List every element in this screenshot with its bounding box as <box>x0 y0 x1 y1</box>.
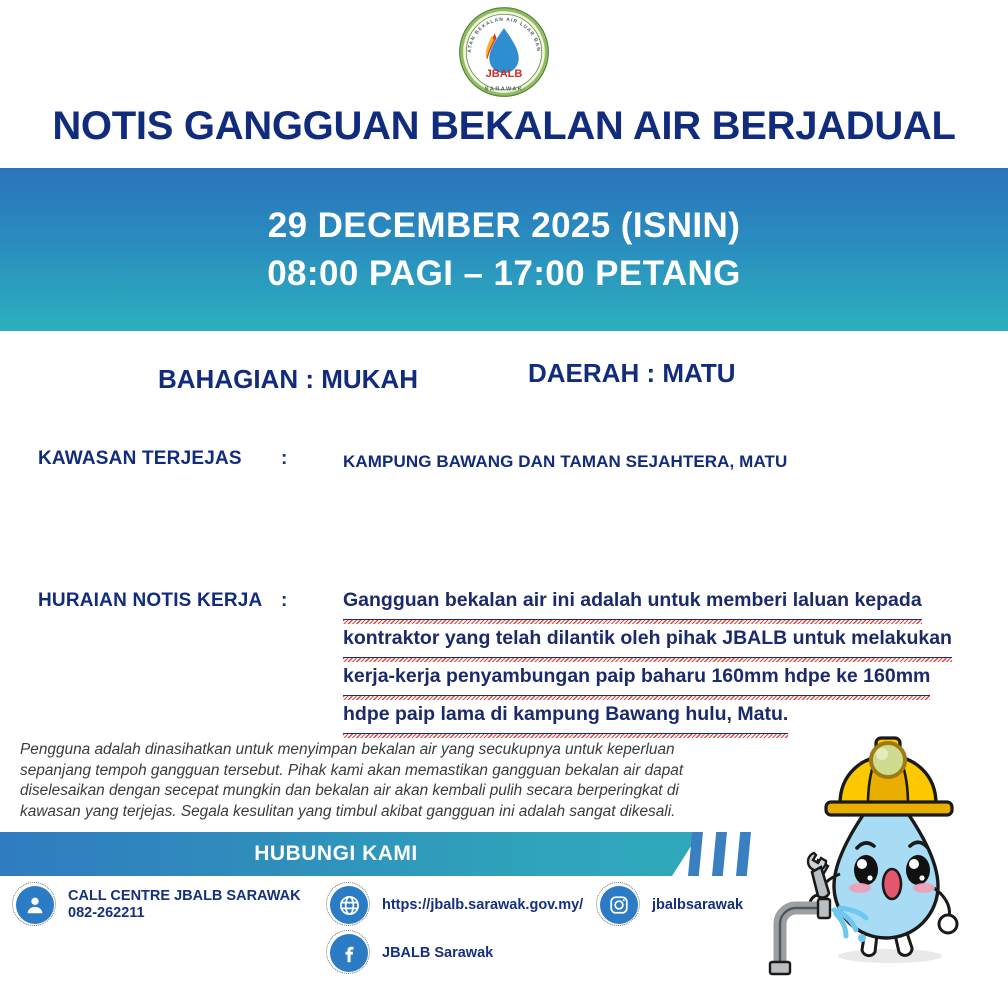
svg-text:JBALB: JBALB <box>486 68 523 80</box>
advisory-note: Pengguna adalah dinasihatkan untuk menyi… <box>20 740 732 822</box>
huraian-line-text: kontraktor yang telah dilantik oleh piha… <box>343 620 952 658</box>
person-icon <box>16 886 54 924</box>
contact-call-centre[interactable]: CALL CENTRE JBALB SARAWAK 082-262211 <box>16 886 301 924</box>
date-banner: 29 DECEMBER 2025 (ISNIN) 08:00 PAGI – 17… <box>0 168 1008 331</box>
kawasan-colon: : <box>281 448 287 470</box>
kawasan-terjejas-label: KAWASAN TERJEJAS <box>38 448 242 470</box>
instagram-handle: jbalbsarawak <box>652 897 743 914</box>
facebook-page-name: JBALB Sarawak <box>382 945 493 962</box>
globe-icon <box>330 886 368 924</box>
website-url: https://jbalb.sarawak.gov.my/ <box>382 897 583 914</box>
kawasan-terjejas-value: KAMPUNG BAWANG DAN TAMAN SEJAHTERA, MATU <box>343 452 787 472</box>
jbalb-logo: JBALB SARAWAK JABATAN BEKALAN AIR LUAR B… <box>458 6 550 98</box>
contact-call-text: CALL CENTRE JBALB SARAWAK 082-262211 <box>68 888 301 922</box>
svg-text:SARAWAK: SARAWAK <box>485 87 524 93</box>
huraian-line: Gangguan bekalan air ini adalah untuk me… <box>343 582 903 620</box>
location-row: BAHAGIAN : MUKAH DAERAH : MATU <box>0 364 1008 400</box>
contact-instagram[interactable]: jbalbsarawak <box>600 886 743 924</box>
huraian-notis-kerja-label: HURAIAN NOTIS KERJA <box>38 590 262 612</box>
logo-container: JBALB SARAWAK JABATAN BEKALAN AIR LUAR B… <box>0 4 1008 100</box>
banner-date: 29 DECEMBER 2025 (ISNIN) <box>268 202 741 249</box>
slash-decoration-icon <box>736 832 751 876</box>
instagram-icon <box>600 886 638 924</box>
contact-bar-heading: HUBUNGI KAMI <box>0 832 672 876</box>
slash-decoration-icon <box>712 832 727 876</box>
huraian-line: kontraktor yang telah dilantik oleh piha… <box>343 620 903 658</box>
notice-page: JBALB SARAWAK JABATAN BEKALAN AIR LUAR B… <box>0 0 1008 986</box>
facebook-icon <box>330 934 368 972</box>
huraian-line: kerja-kerja penyambungan paip baharu 160… <box>343 658 903 696</box>
bahagian-label: BAHAGIAN : MUKAH <box>158 364 418 395</box>
huraian-line-text: kerja-kerja penyambungan paip baharu 160… <box>343 658 930 696</box>
huraian-line-text: Gangguan bekalan air ini adalah untuk me… <box>343 582 922 620</box>
call-centre-number: 082-262211 <box>68 905 301 922</box>
banner-time: 08:00 PAGI – 17:00 PETANG <box>267 250 741 297</box>
contact-website[interactable]: https://jbalb.sarawak.gov.my/ <box>330 886 583 924</box>
huraian-colon: : <box>281 590 287 612</box>
water-droplet-mascot <box>762 728 1002 978</box>
huraian-line-text: hdpe paip lama di kampung Bawang hulu, M… <box>343 696 788 734</box>
huraian-notis-kerja-body: Gangguan bekalan air ini adalah untuk me… <box>343 582 903 734</box>
contact-facebook[interactable]: JBALB Sarawak <box>330 934 493 972</box>
daerah-label: DAERAH : MATU <box>528 358 736 389</box>
call-centre-name: CALL CENTRE JBALB SARAWAK <box>68 888 301 905</box>
page-title: NOTIS GANGGUAN BEKALAN AIR BERJADUAL <box>0 104 1008 149</box>
